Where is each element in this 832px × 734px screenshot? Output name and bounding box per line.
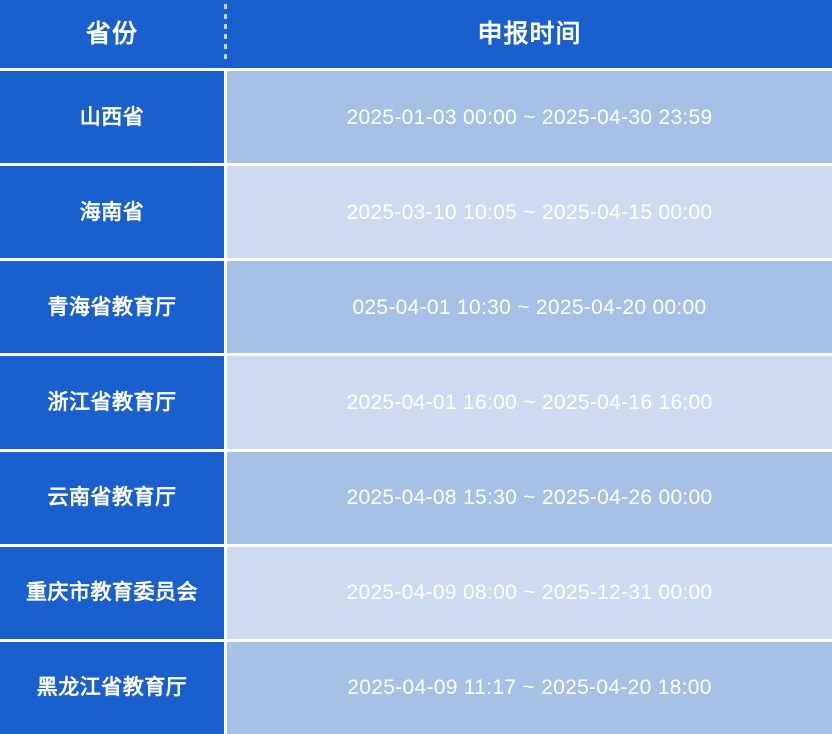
province-label: 黑龙江省教育厅 bbox=[37, 677, 188, 698]
cell-province: 青海省教育厅 bbox=[0, 261, 224, 353]
table-row: 海南省 2025-03-10 10:05 ~ 2025-04-15 00:00 bbox=[0, 166, 832, 258]
time-range-label: 2025-04-01 16:00 ~ 2025-04-16 16:00 bbox=[346, 392, 712, 413]
table-row: 黑龙江省教育厅 2025-04-09 11:17 ~ 2025-04-20 18… bbox=[0, 642, 832, 734]
province-label: 海南省 bbox=[80, 202, 145, 223]
cell-province: 云南省教育厅 bbox=[0, 452, 224, 544]
table-row: 重庆市教育委员会 2025-04-09 08:00 ~ 2025-12-31 0… bbox=[0, 547, 832, 639]
cell-province: 山西省 bbox=[0, 71, 224, 163]
province-label: 浙江省教育厅 bbox=[48, 392, 177, 413]
cell-time: 2025-04-08 15:30 ~ 2025-04-26 00:00 bbox=[227, 452, 832, 544]
cell-time: 2025-04-09 11:17 ~ 2025-04-20 18:00 bbox=[227, 642, 832, 734]
column-header-time: 申报时间 bbox=[227, 0, 832, 68]
province-label: 云南省教育厅 bbox=[48, 487, 177, 508]
time-range-label: 2025-01-03 00:00 ~ 2025-04-30 23:59 bbox=[346, 107, 712, 128]
column-header-province-label: 省份 bbox=[86, 22, 138, 47]
province-label: 青海省教育厅 bbox=[48, 297, 177, 318]
cell-time: 2025-04-09 08:00 ~ 2025-12-31 00:00 bbox=[227, 547, 832, 639]
cell-province: 海南省 bbox=[0, 166, 224, 258]
table-row: 山西省 2025-01-03 00:00 ~ 2025-04-30 23:59 bbox=[0, 71, 832, 163]
cell-time: 2025-01-03 00:00 ~ 2025-04-30 23:59 bbox=[227, 71, 832, 163]
column-header-time-label: 申报时间 bbox=[477, 22, 581, 47]
table-header-row: 省份 申报时间 bbox=[0, 0, 832, 68]
cell-province: 黑龙江省教育厅 bbox=[0, 642, 224, 734]
cell-province: 重庆市教育委员会 bbox=[0, 547, 224, 639]
province-label: 重庆市教育委员会 bbox=[26, 582, 198, 603]
time-range-label: 2025-04-09 11:17 ~ 2025-04-20 18:00 bbox=[347, 677, 712, 698]
cell-time: 2025-04-01 16:00 ~ 2025-04-16 16:00 bbox=[227, 356, 832, 448]
time-range-label: 2025-04-09 08:00 ~ 2025-12-31 00:00 bbox=[346, 582, 712, 603]
cell-province: 浙江省教育厅 bbox=[0, 356, 224, 448]
table-row: 浙江省教育厅 2025-04-01 16:00 ~ 2025-04-16 16:… bbox=[0, 356, 832, 448]
province-label: 山西省 bbox=[80, 107, 145, 128]
time-range-label: 025-04-01 10:30 ~ 2025-04-20 00:00 bbox=[352, 297, 706, 318]
column-header-province: 省份 bbox=[0, 0, 224, 68]
cell-time: 2025-03-10 10:05 ~ 2025-04-15 00:00 bbox=[227, 166, 832, 258]
declaration-schedule-table: 省份 申报时间 山西省 2025-01-03 00:00 ~ 2025-04-3… bbox=[0, 0, 832, 734]
time-range-label: 2025-04-08 15:30 ~ 2025-04-26 00:00 bbox=[346, 487, 712, 508]
table-row: 云南省教育厅 2025-04-08 15:30 ~ 2025-04-26 00:… bbox=[0, 452, 832, 544]
header-column-divider bbox=[224, 0, 227, 68]
time-range-label: 2025-03-10 10:05 ~ 2025-04-15 00:00 bbox=[346, 202, 712, 223]
table-row: 青海省教育厅 025-04-01 10:30 ~ 2025-04-20 00:0… bbox=[0, 261, 832, 353]
cell-time: 025-04-01 10:30 ~ 2025-04-20 00:00 bbox=[227, 261, 832, 353]
